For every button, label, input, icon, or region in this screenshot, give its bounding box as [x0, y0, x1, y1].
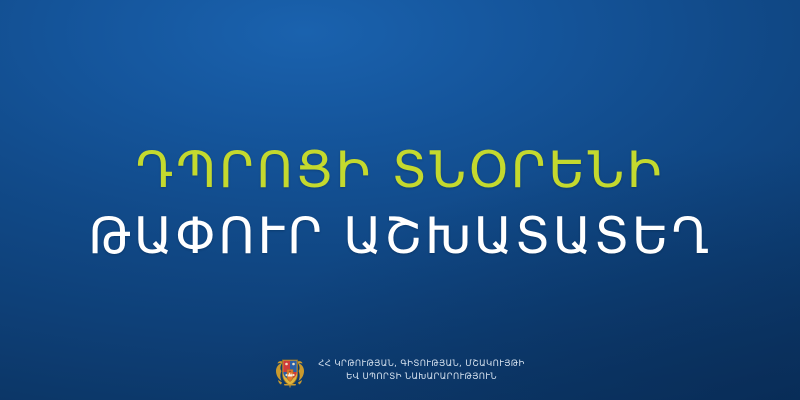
ministry-name-line-1: ՀՀ ԿՐԹՈՒԹՅԱՆ, ԳԻՏՈՒԹՅԱՆ, ՄՇԱԿՈՒՅԹԻ: [318, 359, 524, 370]
announcement-banner: ԴՊՐՈՑԻ ՏՆՕՐԵՆԻ ԹԱՓՈՒՐ ԱՇԽԱՏԱՏԵՂ: [0, 0, 800, 400]
headline: ԴՊՐՈՑԻ ՏՆՕՐԵՆԻ ԹԱՓՈՒՐ ԱՇԽԱՏԱՏԵՂ: [88, 145, 712, 261]
headline-line-2: ԹԱՓՈՒՐ ԱՇԽԱՏԱՏԵՂ: [88, 211, 712, 261]
ministry-name: ՀՀ ԿՐԹՈՒԹՅԱՆ, ԳԻՏՈՒԹՅԱՆ, ՄՇԱԿՈՒՅԹԻ ԵՎ ՍՊ…: [318, 359, 524, 382]
footer: ՀՀ ԿՐԹՈՒԹՅԱՆ, ԳԻՏՈՒԹՅԱՆ, ՄՇԱԿՈՒՅԹԻ ԵՎ ՍՊ…: [0, 354, 800, 388]
ministry-name-line-2: ԵՎ ՍՊՈՐՏԻ ՆԱԽԱՐԱՐՈՒԹՅՈՒՆ: [346, 372, 497, 383]
headline-line-1: ԴՊՐՈՑԻ ՏՆՕՐԵՆԻ: [88, 145, 712, 195]
banner-content: ԴՊՐՈՑԻ ՏՆՕՐԵՆԻ ԹԱՓՈՒՐ ԱՇԽԱՏԱՏԵՂ: [0, 0, 800, 400]
armenia-coat-of-arms-icon: [275, 354, 305, 388]
